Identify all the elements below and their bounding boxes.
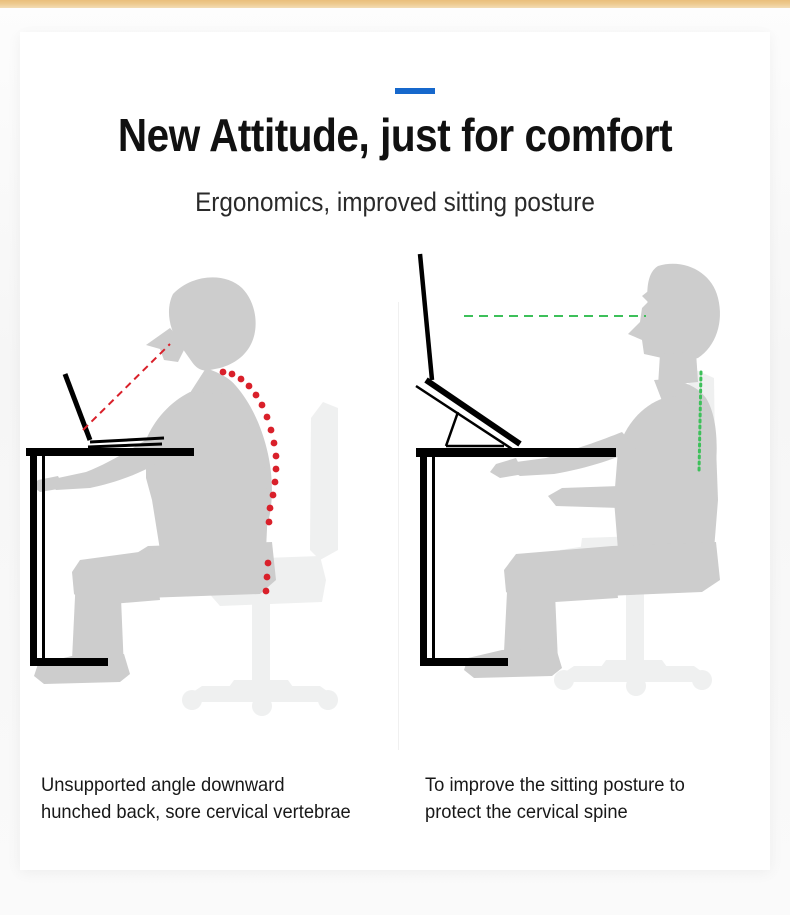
caption-good-posture: To improve the sitting posture to protec… [425,772,754,826]
title-accent-underline [395,88,435,94]
panel-good-posture [396,250,770,750]
caption-line: protect the cervical spine [425,799,754,826]
top-accent-bar [0,0,790,8]
seated-person-hunched [32,277,276,684]
caption-line: Unsupported angle downward [41,772,389,799]
panel-captions: Unsupported angle downward hunched back,… [20,772,770,852]
caption-line: hunched back, sore cervical vertebrae [41,799,389,826]
sight-line-downward [83,344,170,430]
caption-bad-posture: Unsupported angle downward hunched back,… [41,772,389,826]
product-feature-page: New Attitude, just for comfort Ergonomic… [0,0,790,915]
content-card: New Attitude, just for comfort Ergonomic… [20,32,770,870]
page-title: New Attitude, just for comfort [65,108,725,162]
laptop-on-stand-illustration [416,254,520,449]
comparison-panels [20,250,770,750]
caption-line: To improve the sitting posture to [425,772,754,799]
seated-person-upright [464,264,720,678]
panel-bad-posture [20,250,394,750]
page-subtitle: Ergonomics, improved sitting posture [58,187,733,218]
